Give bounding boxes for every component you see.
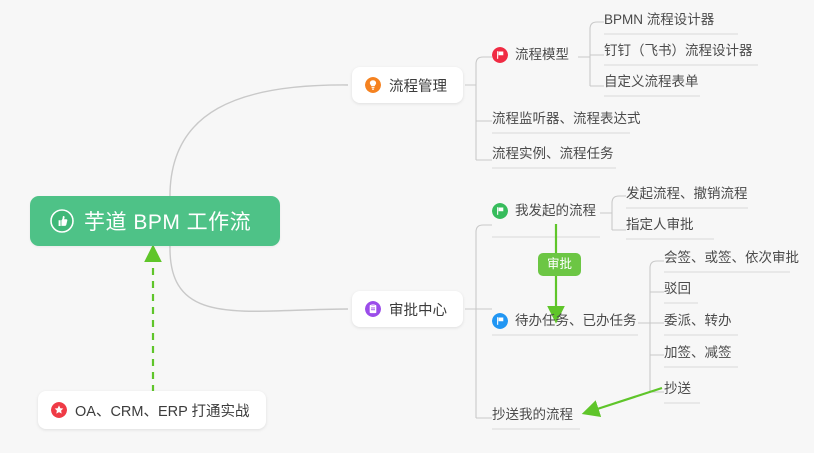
connector-my-initiated-children — [600, 196, 626, 230]
node-label-cc-to-me: 抄送我的流程 — [492, 407, 573, 422]
node-bpmn-designer[interactable]: BPMN 流程设计器 — [604, 12, 714, 32]
annotation-badge-label: 审批 — [547, 257, 572, 271]
node-label-delegate-transfer: 委派、转办 — [664, 313, 732, 328]
callout-label: OA、CRM、ERP 打通实战 — [75, 400, 250, 421]
flag-green-icon — [492, 203, 508, 219]
branch-card-process-management[interactable]: 流程管理 — [352, 67, 463, 103]
node-label-process-listener: 流程监听器、流程表达式 — [492, 111, 641, 126]
flag-red-icon — [492, 47, 508, 63]
node-assigned-approver[interactable]: 指定人审批 — [626, 217, 694, 237]
annotation-badge-approval: 审批 — [538, 253, 581, 276]
node-label-process-model: 流程模型 — [515, 47, 569, 63]
node-countersign[interactable]: 会签、或签、依次审批 — [664, 250, 799, 270]
node-label-todo-done: 待办任务、已办任务 — [515, 313, 637, 329]
node-reject[interactable]: 驳回 — [664, 281, 691, 301]
node-label-countersign: 会签、或签、依次审批 — [664, 250, 799, 265]
star-icon — [51, 402, 67, 418]
node-label-bpmn-designer: BPMN 流程设计器 — [604, 12, 714, 27]
node-label-process-instance: 流程实例、流程任务 — [492, 146, 614, 161]
connector-todo-done-children — [638, 261, 664, 392]
node-delegate-transfer[interactable]: 委派、转办 — [664, 313, 732, 333]
node-cc[interactable]: 抄送 — [664, 381, 691, 401]
annotation-arrow-cc — [588, 388, 662, 412]
node-label-custom-form: 自定义流程表单 — [604, 74, 699, 89]
flag-blue-icon — [492, 313, 508, 329]
node-label-add-remove-sign: 加签、减签 — [664, 345, 732, 360]
node-label-reject: 驳回 — [664, 281, 691, 296]
branch-card-approval-center[interactable]: 审批中心 — [352, 291, 463, 327]
root-node[interactable]: 芋道 BPM 工作流 — [30, 196, 280, 246]
node-process-listener[interactable]: 流程监听器、流程表达式 — [492, 111, 641, 131]
node-label-dingtalk-designer: 钉钉（飞书）流程设计器 — [604, 43, 753, 58]
connector-process-model-children — [578, 22, 604, 86]
node-label-assigned-approver: 指定人审批 — [626, 217, 694, 232]
node-label-cc: 抄送 — [664, 381, 691, 396]
node-cc-to-me[interactable]: 抄送我的流程 — [492, 407, 573, 427]
node-label-start-cancel-process: 发起流程、撤销流程 — [626, 186, 748, 201]
node-add-remove-sign[interactable]: 加签、减签 — [664, 345, 732, 365]
connector-root-to-process-management — [170, 85, 348, 200]
node-custom-form[interactable]: 自定义流程表单 — [604, 74, 699, 94]
node-todo-done[interactable]: 待办任务、已办任务 — [492, 313, 637, 333]
branch-label-process-management: 流程管理 — [389, 75, 447, 96]
callout-card[interactable]: OA、CRM、ERP 打通实战 — [38, 391, 266, 429]
node-start-cancel-process[interactable]: 发起流程、撤销流程 — [626, 186, 748, 206]
connector-root-to-approval-center — [170, 245, 348, 311]
node-dingtalk-designer[interactable]: 钉钉（飞书）流程设计器 — [604, 43, 753, 63]
node-process-model[interactable]: 流程模型 — [492, 47, 569, 67]
thumbs-up-icon — [50, 209, 74, 233]
clipboard-purple-icon — [365, 301, 381, 317]
connector-process-management-children — [465, 57, 492, 160]
root-label: 芋道 BPM 工作流 — [84, 206, 251, 236]
node-label-my-initiated: 我发起的流程 — [515, 203, 596, 219]
connector-approval-center-children — [465, 225, 492, 418]
branch-label-approval-center: 审批中心 — [389, 299, 447, 320]
node-process-instance[interactable]: 流程实例、流程任务 — [492, 146, 614, 166]
node-my-initiated[interactable]: 我发起的流程 — [492, 203, 596, 223]
lightbulb-icon — [365, 77, 381, 93]
mindmap-canvas: 芋道 BPM 工作流 OA、CRM、ERP 打通实战 流程管理 流程模型 BPM… — [0, 0, 814, 453]
